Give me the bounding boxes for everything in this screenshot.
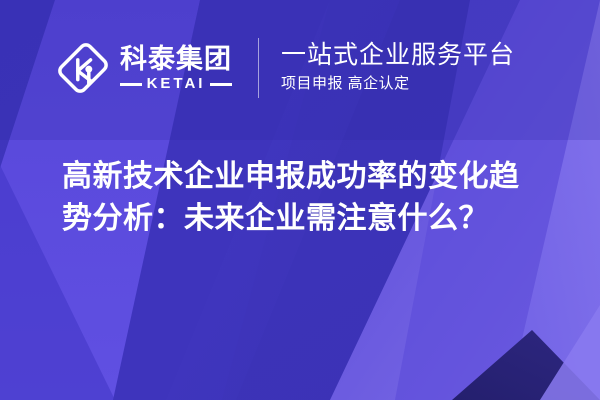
logo-english-row: KETAI <box>120 76 232 92</box>
logo-dash-right-icon <box>210 83 232 86</box>
logo-english-name: KETAI <box>147 76 206 92</box>
page-title: 高新技术企业申报成功率的变化趋 势分析：未来企业需注意什么？ <box>62 156 554 240</box>
page-title-line-1: 高新技术企业申报成功率的变化趋 <box>62 156 554 198</box>
ketai-diamond-k-logo-icon <box>54 39 112 97</box>
promo-banner: 科泰集团 KETAI 一站式企业服务平台 项目申报 高企认定 高新技术企业申报成… <box>0 0 600 400</box>
page-title-line-2: 势分析：未来企业需注意什么？ <box>62 198 554 240</box>
tagline-sub-text: 项目申报 高企认定 <box>281 73 515 95</box>
tagline-main-text: 一站式企业服务平台 <box>281 41 515 70</box>
logo-wordmark: 科泰集团 KETAI <box>120 44 232 92</box>
vertical-divider-icon <box>258 38 259 98</box>
brand-tagline: 一站式企业服务平台 项目申报 高企认定 <box>281 41 515 95</box>
banner-header: 科泰集团 KETAI 一站式企业服务平台 项目申报 高企认定 <box>54 38 515 98</box>
logo-chinese-name: 科泰集团 <box>120 44 232 74</box>
logo-dash-left-icon <box>120 83 142 86</box>
brand-logo[interactable]: 科泰集团 KETAI <box>54 39 232 97</box>
